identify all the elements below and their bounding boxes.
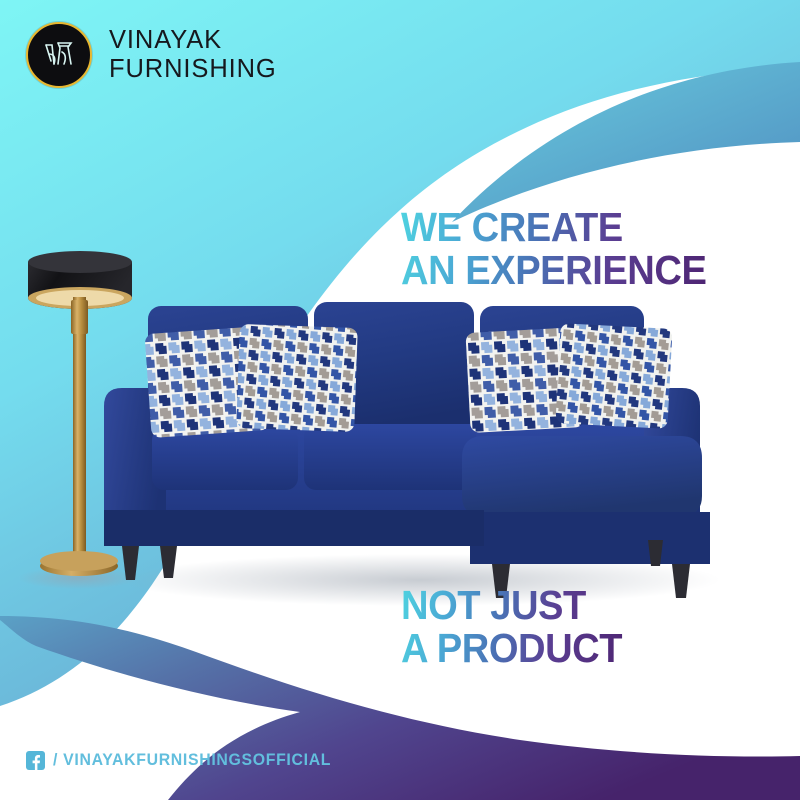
headline-primary: WE CREATE AN EXPERIENCE xyxy=(401,206,706,291)
handle-text: / VINAYAKFURNISHINGSOFFICIAL xyxy=(53,751,331,770)
monogram-glyph xyxy=(38,34,80,76)
social-handle[interactable]: / VINAYAKFURNISHINGSOFFICIAL xyxy=(26,751,343,770)
furniture-scene xyxy=(0,0,800,800)
navy-sectional-sofa xyxy=(104,302,710,598)
sofa-seat-cushion-center xyxy=(304,424,476,490)
lamp-shade-top xyxy=(28,251,132,273)
sofa-base-skirt xyxy=(104,510,484,546)
sofa-seat-cushion-left xyxy=(152,428,298,490)
sofa-chaise-base xyxy=(470,512,710,564)
lamp-pole-collar xyxy=(71,300,88,334)
poster-canvas: VINAYAK FURNISHING WE CREATE AN EXPERIEN… xyxy=(0,0,800,800)
brand-logo[interactable]: VINAYAK FURNISHING xyxy=(26,22,277,88)
headline-secondary: NOT JUST A PRODUCT xyxy=(401,584,622,669)
sofa-chaise-top xyxy=(462,436,702,516)
facebook-icon[interactable] xyxy=(26,751,45,770)
pillow-2 xyxy=(236,324,358,432)
vinayak-monogram-icon xyxy=(26,22,92,88)
lamp-base-top xyxy=(40,551,118,571)
brand-name: VINAYAK FURNISHING xyxy=(109,26,277,84)
facebook-glyph xyxy=(30,754,41,770)
lamp-pole xyxy=(73,297,86,562)
pillow-4 xyxy=(555,323,672,429)
